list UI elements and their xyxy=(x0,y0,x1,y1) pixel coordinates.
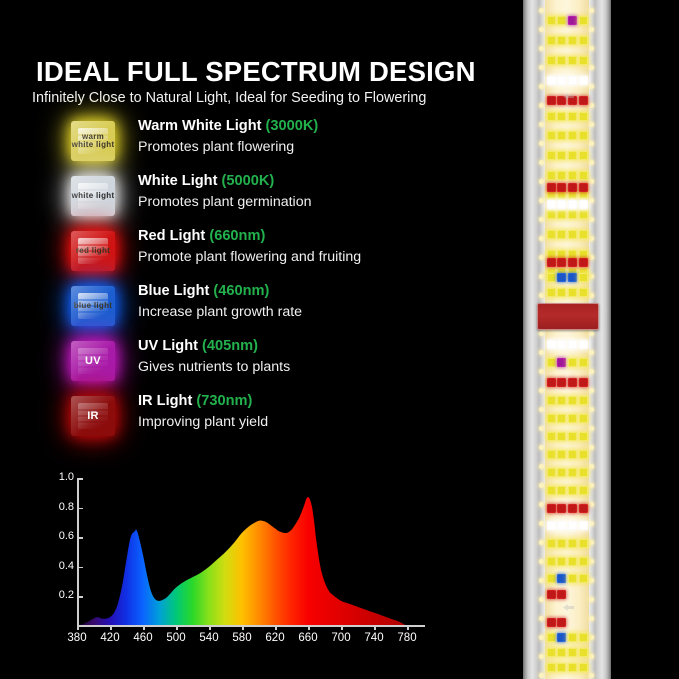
led-red xyxy=(547,96,556,105)
led-warm xyxy=(557,151,566,160)
led-row xyxy=(545,183,589,192)
x-tick-label: 540 xyxy=(199,632,218,644)
x-tick-mark xyxy=(407,625,409,630)
x-tick-mark xyxy=(176,625,178,630)
x-tick-mark xyxy=(143,625,145,630)
led-warm xyxy=(557,112,566,121)
x-tick-label: 660 xyxy=(298,632,317,644)
edge-led-dot xyxy=(589,616,594,621)
edge-led-dot xyxy=(589,559,594,564)
led-white xyxy=(568,521,577,530)
edge-led-dot xyxy=(539,8,544,13)
led-white xyxy=(579,521,588,530)
x-tick-mark xyxy=(341,625,343,630)
led-warm xyxy=(579,36,588,45)
led-row xyxy=(545,288,589,297)
led-warm xyxy=(547,151,556,160)
led-row xyxy=(545,258,589,267)
edge-led-dot xyxy=(539,217,544,222)
led-warm xyxy=(557,663,566,672)
led-row xyxy=(545,378,589,387)
edge-led-dot xyxy=(589,407,594,412)
edge-led-dot xyxy=(539,122,544,127)
led-warm xyxy=(579,450,588,459)
edge-led-dot xyxy=(539,578,544,583)
edge-led-dot xyxy=(539,179,544,184)
y-tick-mark xyxy=(77,537,83,539)
feature-list: warm white lightWarm White Light (3000K)… xyxy=(62,116,492,446)
led-warm xyxy=(547,36,556,45)
led-warm xyxy=(568,450,577,459)
led-red xyxy=(547,590,556,599)
led-warm xyxy=(579,171,588,180)
led-warm xyxy=(568,468,577,477)
led-warm xyxy=(568,112,577,121)
chip-glow-wrap: warm white light xyxy=(62,116,124,166)
led-warm xyxy=(568,230,577,239)
led-row xyxy=(545,340,589,349)
feature-title: IR Light (730nm) xyxy=(138,392,488,410)
led-row xyxy=(545,76,589,85)
chip-glow-wrap: IR xyxy=(62,391,124,441)
led-warm xyxy=(568,663,577,672)
led-grow-light-bar xyxy=(523,0,611,679)
led-warm xyxy=(557,486,566,495)
led-warm xyxy=(557,16,566,25)
led-warm xyxy=(547,273,556,282)
edge-led-dot xyxy=(589,293,594,298)
led-warm xyxy=(547,230,556,239)
edge-led-dot xyxy=(539,426,544,431)
edge-led-dot xyxy=(539,483,544,488)
chip-glyph-label: red light xyxy=(76,247,110,255)
led-red xyxy=(547,618,556,627)
edge-led-dot xyxy=(589,103,594,108)
feature-title: Blue Light (460nm) xyxy=(138,282,488,300)
led-red xyxy=(557,258,566,267)
x-tick-label: 700 xyxy=(331,632,350,644)
edge-led-dot xyxy=(589,483,594,488)
led-row xyxy=(545,504,589,513)
chip-glow-wrap: white light xyxy=(62,171,124,221)
edge-led-dot xyxy=(539,255,544,260)
led-warm xyxy=(557,539,566,548)
led-row xyxy=(545,358,589,367)
led-warm xyxy=(568,648,577,657)
feature-row: warm white lightWarm White Light (3000K)… xyxy=(62,116,492,171)
edge-led-dot xyxy=(539,27,544,32)
led-uv xyxy=(557,358,566,367)
edge-led-dot xyxy=(589,84,594,89)
x-tick-label: 740 xyxy=(364,632,383,644)
feature-description: Gives nutrients to plants xyxy=(138,358,488,376)
white-led-chip-icon: white light xyxy=(71,176,115,216)
led-row xyxy=(545,633,589,642)
feature-wavelength: (730nm) xyxy=(196,393,252,409)
edge-led-dot xyxy=(589,597,594,602)
led-warm xyxy=(579,648,588,657)
led-warm xyxy=(547,450,556,459)
led-warm xyxy=(547,16,556,25)
led-warm xyxy=(568,36,577,45)
led-red xyxy=(557,618,566,627)
led-warm xyxy=(579,151,588,160)
feature-row: UVUV Light (405nm)Gives nutrients to pla… xyxy=(62,336,492,391)
feature-title: Warm White Light (3000K) xyxy=(138,117,488,135)
led-red xyxy=(557,590,566,599)
y-tick-label: 0.6 xyxy=(59,530,74,542)
edge-led-dot xyxy=(589,65,594,70)
led-row xyxy=(545,273,589,282)
led-row xyxy=(545,663,589,672)
chip-glyph-label: warm white light xyxy=(71,133,115,149)
edge-led-dot xyxy=(539,464,544,469)
led-blue xyxy=(557,273,566,282)
y-tick-label: 0.8 xyxy=(59,501,74,513)
led-warm xyxy=(579,273,588,282)
led-warm xyxy=(568,396,577,405)
led-warm xyxy=(557,432,566,441)
led-warm xyxy=(547,414,556,423)
chip-glyph-label: IR xyxy=(87,411,99,422)
led-row xyxy=(545,539,589,548)
feature-row: red lightRed Light (660nm)Promote plant … xyxy=(62,226,492,281)
edge-led-dot xyxy=(589,445,594,450)
led-warm xyxy=(579,432,588,441)
feature-description: Increase plant growth rate xyxy=(138,303,488,321)
led-warm xyxy=(579,210,588,219)
led-warm xyxy=(568,131,577,140)
feature-text: IR Light (730nm)Improving plant yield xyxy=(138,392,488,432)
led-red xyxy=(579,378,588,387)
led-warm xyxy=(547,432,556,441)
x-tick-mark xyxy=(77,625,79,630)
led-row xyxy=(545,112,589,121)
led-blue xyxy=(557,574,566,583)
red-led-chip-icon: red light xyxy=(71,231,115,271)
led-row xyxy=(545,230,589,239)
led-row xyxy=(545,414,589,423)
led-row xyxy=(545,151,589,160)
edge-led-dot xyxy=(589,502,594,507)
led-red xyxy=(579,96,588,105)
led-row xyxy=(545,468,589,477)
led-warm xyxy=(568,574,577,583)
edge-led-dot xyxy=(589,198,594,203)
led-red xyxy=(579,183,588,192)
edge-led-dot xyxy=(589,217,594,222)
feature-wavelength: (660nm) xyxy=(209,228,265,244)
led-row xyxy=(545,450,589,459)
led-warm xyxy=(547,539,556,548)
y-tick-mark xyxy=(77,478,83,480)
led-warm xyxy=(557,171,566,180)
feature-name: White Light xyxy=(138,173,222,189)
led-red xyxy=(568,504,577,513)
feature-name: UV Light xyxy=(138,338,202,354)
led-white xyxy=(557,76,566,85)
led-warm xyxy=(557,131,566,140)
led-warm xyxy=(579,230,588,239)
led-warm xyxy=(547,557,556,566)
feature-text: Blue Light (460nm)Increase plant growth … xyxy=(138,282,488,322)
led-warm xyxy=(547,574,556,583)
feature-name: Warm White Light xyxy=(138,118,266,134)
edge-led-dot xyxy=(539,540,544,545)
edge-led-dot xyxy=(539,559,544,564)
edge-led-dot xyxy=(539,236,544,241)
uv-led-chip-icon: UV xyxy=(71,341,115,381)
edge-led-dot xyxy=(589,635,594,640)
led-row xyxy=(545,36,589,45)
led-red xyxy=(579,258,588,267)
edge-led-dot xyxy=(539,635,544,640)
y-tick-mark xyxy=(77,596,83,598)
warm-white-led-chip-icon: warm white light xyxy=(71,121,115,161)
edge-led-dot xyxy=(589,160,594,165)
edge-led-dot xyxy=(539,502,544,507)
edge-led-dot xyxy=(539,445,544,450)
y-tick-label: 1.0 xyxy=(59,471,74,483)
feature-row: white lightWhite Light (5000K)Promotes p… xyxy=(62,171,492,226)
led-warm xyxy=(568,557,577,566)
led-warm xyxy=(579,557,588,566)
led-red xyxy=(547,183,556,192)
led-row xyxy=(545,432,589,441)
led-white xyxy=(557,340,566,349)
edge-led-dot xyxy=(589,521,594,526)
edge-led-dot xyxy=(539,141,544,146)
feature-wavelength: (460nm) xyxy=(213,283,269,299)
edge-led-dot xyxy=(589,540,594,545)
led-row xyxy=(545,16,589,25)
x-tick-label: 500 xyxy=(166,632,185,644)
led-row xyxy=(545,171,589,180)
edge-led-dot xyxy=(589,578,594,583)
feature-description: Promotes plant germination xyxy=(138,193,488,211)
edge-led-dot xyxy=(589,8,594,13)
edge-led-dot xyxy=(589,654,594,659)
blue-led-chip-icon: blue light xyxy=(71,286,115,326)
led-red xyxy=(557,378,566,387)
led-warm xyxy=(557,468,566,477)
led-warm xyxy=(547,112,556,121)
edge-led-dot xyxy=(589,179,594,184)
led-uv xyxy=(568,16,577,25)
led-warm xyxy=(557,396,566,405)
chip-glyph-label: white light xyxy=(72,192,115,200)
led-white xyxy=(557,200,566,209)
y-tick-mark xyxy=(77,567,83,569)
led-warm xyxy=(547,396,556,405)
led-row xyxy=(545,131,589,140)
led-warm xyxy=(547,358,556,367)
led-white xyxy=(547,76,556,85)
edge-led-dot xyxy=(539,103,544,108)
feature-description: Promote plant flowering and fruiting xyxy=(138,248,488,266)
edge-led-dot xyxy=(539,198,544,203)
led-white xyxy=(547,521,556,530)
led-warm xyxy=(568,288,577,297)
led-warm xyxy=(579,112,588,121)
led-warm xyxy=(579,16,588,25)
led-warm xyxy=(568,151,577,160)
led-row xyxy=(545,486,589,495)
led-warm xyxy=(568,171,577,180)
led-row xyxy=(545,56,589,65)
led-warm xyxy=(579,663,588,672)
led-red xyxy=(557,504,566,513)
led-red xyxy=(568,378,577,387)
led-white xyxy=(557,521,566,530)
bar-edge-leds-right xyxy=(589,0,595,679)
edge-led-dot xyxy=(589,122,594,127)
x-tick-label: 460 xyxy=(133,632,152,644)
content-panel: IDEAL FULL SPECTRUM DESIGN Infinitely Cl… xyxy=(0,0,510,679)
led-red xyxy=(579,504,588,513)
edge-led-dot xyxy=(589,673,594,678)
edge-led-dot xyxy=(539,388,544,393)
led-warm xyxy=(547,210,556,219)
feature-text: White Light (5000K)Promotes plant germin… xyxy=(138,172,488,212)
edge-led-dot xyxy=(589,388,594,393)
y-tick-mark xyxy=(77,508,83,510)
chart-y-axis xyxy=(77,478,79,626)
led-warm xyxy=(579,414,588,423)
led-red xyxy=(547,258,556,267)
x-tick-mark xyxy=(209,625,211,630)
led-row xyxy=(545,521,589,530)
page-title: IDEAL FULL SPECTRUM DESIGN xyxy=(36,56,476,88)
led-warm xyxy=(579,358,588,367)
led-warm xyxy=(579,56,588,65)
led-white xyxy=(547,200,556,209)
feature-title: White Light (5000K) xyxy=(138,172,488,190)
spectrum-area xyxy=(77,497,407,626)
led-white xyxy=(568,340,577,349)
led-warm xyxy=(568,539,577,548)
feature-wavelength: (405nm) xyxy=(202,338,258,354)
ir-led-chip-icon: IR xyxy=(71,396,115,436)
led-warm xyxy=(568,633,577,642)
y-tick-label: 0.2 xyxy=(59,589,74,601)
feature-row: IRIR Light (730nm)Improving plant yield xyxy=(62,391,492,446)
x-tick-mark xyxy=(110,625,112,630)
edge-led-dot xyxy=(539,84,544,89)
chip-glow-wrap: red light xyxy=(62,226,124,276)
edge-led-dot xyxy=(589,236,594,241)
led-row xyxy=(545,210,589,219)
led-warm xyxy=(547,56,556,65)
bar-brand-label xyxy=(537,303,599,330)
led-warm xyxy=(557,230,566,239)
led-warm xyxy=(557,450,566,459)
feature-title: Red Light (660nm) xyxy=(138,227,488,245)
edge-led-dot xyxy=(539,160,544,165)
edge-led-dot xyxy=(539,331,544,336)
led-row xyxy=(545,590,589,599)
x-tick-label: 420 xyxy=(100,632,119,644)
led-warm xyxy=(568,56,577,65)
chip-glow-wrap: UV xyxy=(62,336,124,386)
led-white xyxy=(568,76,577,85)
edge-led-dot xyxy=(539,369,544,374)
chip-glyph-label: UV xyxy=(85,356,101,367)
feature-text: Red Light (660nm)Promote plant flowering… xyxy=(138,227,488,267)
led-warm xyxy=(547,663,556,672)
led-warm xyxy=(579,539,588,548)
feature-wavelength: (3000K) xyxy=(266,118,319,134)
edge-led-dot xyxy=(589,255,594,260)
edge-led-dot xyxy=(589,46,594,51)
feature-title: UV Light (405nm) xyxy=(138,337,488,355)
led-warm xyxy=(568,358,577,367)
infographic-root: IDEAL FULL SPECTRUM DESIGN Infinitely Cl… xyxy=(0,0,679,679)
led-warm xyxy=(557,648,566,657)
led-blue xyxy=(557,633,566,642)
led-row xyxy=(545,648,589,657)
led-row xyxy=(545,396,589,405)
edge-led-dot xyxy=(539,65,544,70)
led-row xyxy=(545,200,589,209)
edge-led-dot xyxy=(539,654,544,659)
x-tick-label: 780 xyxy=(397,632,416,644)
led-warm xyxy=(547,288,556,297)
edge-led-dot xyxy=(539,673,544,678)
x-tick-mark xyxy=(308,625,310,630)
edge-led-dot xyxy=(589,369,594,374)
page-subtitle: Infinitely Close to Natural Light, Ideal… xyxy=(32,90,482,106)
led-blue xyxy=(568,273,577,282)
chart-x-axis xyxy=(77,625,425,627)
led-warm xyxy=(579,288,588,297)
led-row xyxy=(545,557,589,566)
led-warm xyxy=(579,468,588,477)
edge-led-dot xyxy=(539,597,544,602)
led-red xyxy=(568,258,577,267)
feature-name: Blue Light xyxy=(138,283,213,299)
edge-led-dot xyxy=(589,350,594,355)
led-warm xyxy=(557,56,566,65)
led-warm xyxy=(579,633,588,642)
spectrum-chart: 0.20.40.60.81.0 380420460500540580620660… xyxy=(55,470,425,645)
edge-led-dot xyxy=(539,46,544,51)
led-warm xyxy=(579,396,588,405)
feature-row: blue lightBlue Light (460nm)Increase pla… xyxy=(62,281,492,336)
edge-led-dot xyxy=(589,331,594,336)
led-warm xyxy=(557,557,566,566)
led-warm xyxy=(547,486,556,495)
led-row xyxy=(545,574,589,583)
y-tick-label: 0.4 xyxy=(59,560,74,572)
feature-text: Warm White Light (3000K)Promotes plant f… xyxy=(138,117,488,157)
led-warm xyxy=(568,432,577,441)
led-warm xyxy=(547,171,556,180)
led-warm xyxy=(568,486,577,495)
edge-led-dot xyxy=(539,407,544,412)
chip-glyph-label: blue light xyxy=(74,302,113,310)
led-warm xyxy=(568,210,577,219)
edge-led-dot xyxy=(539,521,544,526)
feature-name: Red Light xyxy=(138,228,209,244)
spectrum-curve xyxy=(55,470,425,645)
led-warm xyxy=(557,210,566,219)
led-white xyxy=(568,200,577,209)
led-warm xyxy=(579,486,588,495)
led-warm xyxy=(557,288,566,297)
led-warm xyxy=(557,414,566,423)
x-tick-label: 380 xyxy=(67,632,86,644)
